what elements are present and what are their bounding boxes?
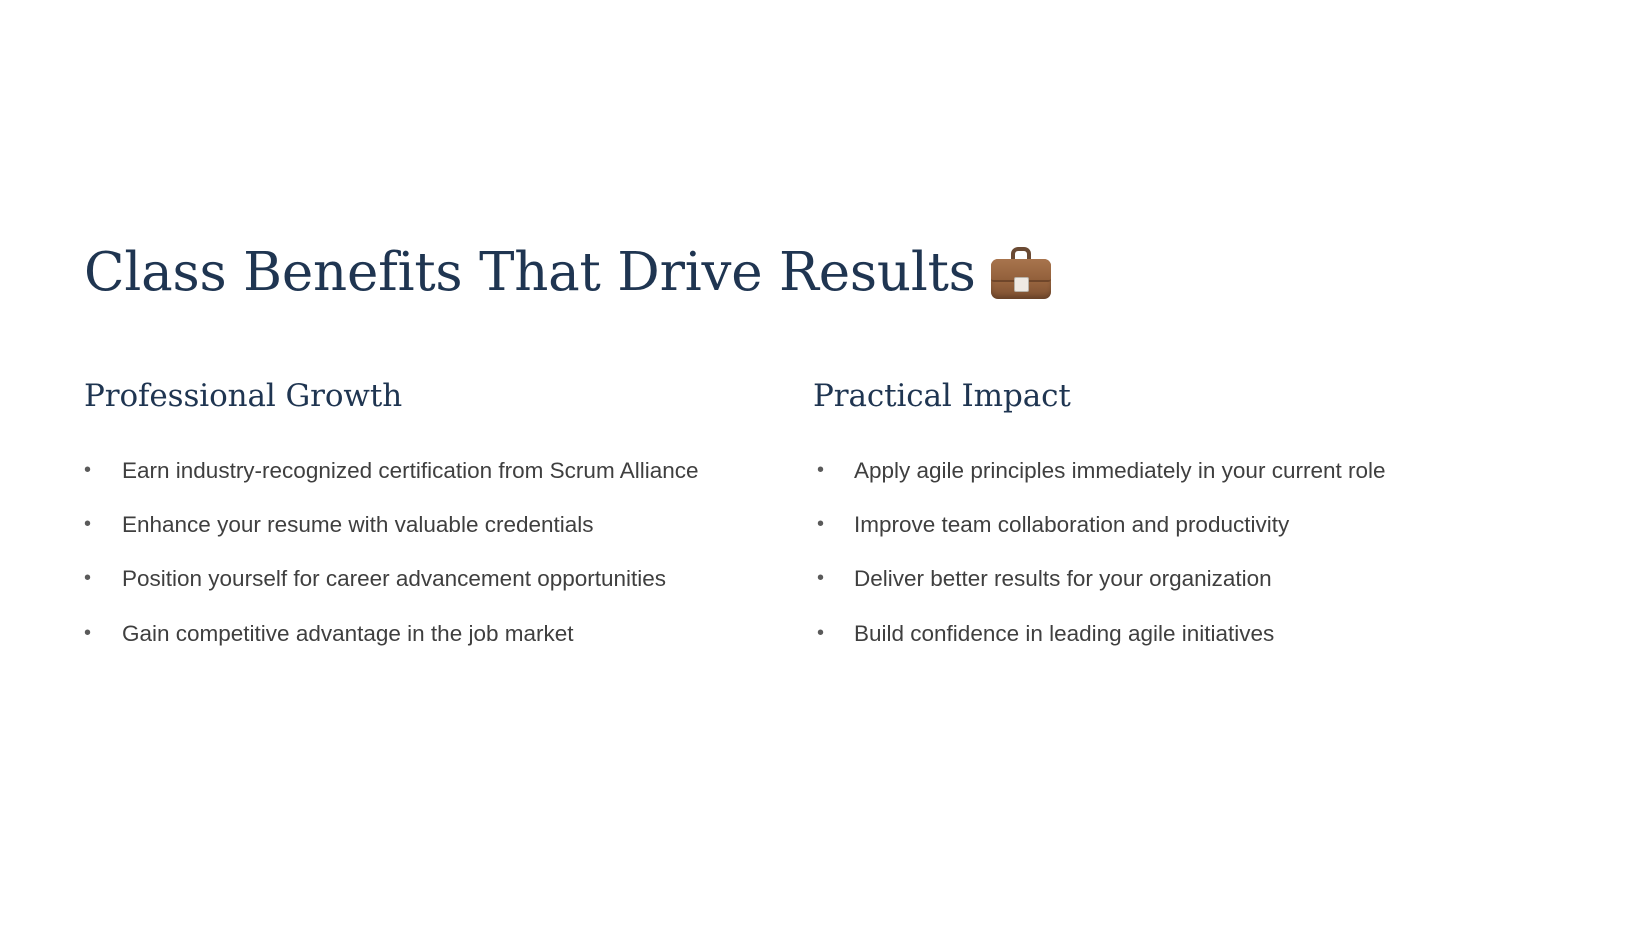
bullet-text: Position yourself for career advancement…: [122, 565, 813, 593]
bullet-dot-icon: •: [813, 511, 854, 538]
slide-title-text: Class Benefits That Drive Results: [84, 243, 976, 302]
bullet-dot-icon: •: [84, 457, 122, 484]
bullet-dot-icon: •: [84, 511, 122, 538]
bullet-text: Earn industry-recognized certification f…: [122, 457, 813, 485]
bullet-text: Apply agile principles immediately in yo…: [854, 457, 1564, 485]
bullet-dot-icon: •: [84, 565, 122, 592]
list-item: • Build confidence in leading agile init…: [813, 620, 1564, 648]
bullet-text: Enhance your resume with valuable creden…: [122, 511, 813, 539]
bullet-dot-icon: •: [813, 620, 854, 647]
slide-title: Class Benefits That Drive Results: [84, 243, 1052, 302]
bullet-dot-icon: •: [84, 620, 122, 647]
list-item: • Earn industry-recognized certification…: [84, 457, 813, 485]
list-item: • Enhance your resume with valuable cred…: [84, 511, 813, 539]
content-columns: Professional Growth • Earn industry-reco…: [84, 378, 1564, 648]
column-heading-practical-impact: Practical Impact: [813, 378, 1564, 415]
list-item: • Apply agile principles immediately in …: [813, 457, 1564, 485]
briefcase-clasp: [1014, 277, 1029, 292]
list-item: • Position yourself for career advanceme…: [84, 565, 813, 593]
bullet-list-professional-growth: • Earn industry-recognized certification…: [84, 457, 813, 648]
briefcase-emoji-icon: [990, 247, 1052, 299]
bullet-text: Improve team collaboration and productiv…: [854, 511, 1564, 539]
bullet-dot-icon: •: [813, 457, 854, 484]
list-item: • Gain competitive advantage in the job …: [84, 620, 813, 648]
slide-canvas: Class Benefits That Drive Results Profes…: [0, 0, 1644, 925]
bullet-text: Gain competitive advantage in the job ma…: [122, 620, 813, 648]
bullet-list-practical-impact: • Apply agile principles immediately in …: [813, 457, 1564, 648]
column-professional-growth: Professional Growth • Earn industry-reco…: [84, 378, 813, 648]
bullet-text: Deliver better results for your organiza…: [854, 565, 1564, 593]
column-practical-impact: Practical Impact • Apply agile principle…: [813, 378, 1564, 648]
bullet-dot-icon: •: [813, 565, 854, 592]
column-heading-professional-growth: Professional Growth: [84, 378, 813, 415]
list-item: • Deliver better results for your organi…: [813, 565, 1564, 593]
list-item: • Improve team collaboration and product…: [813, 511, 1564, 539]
bullet-text: Build confidence in leading agile initia…: [854, 620, 1564, 648]
